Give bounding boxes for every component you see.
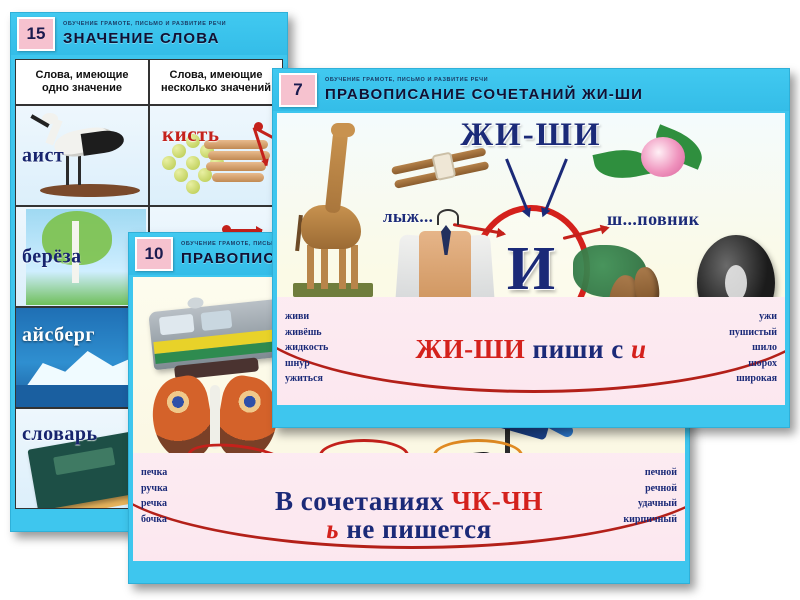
word-shirokaya: широкая (729, 371, 777, 387)
giraffe-icon (291, 131, 375, 301)
word-shilo: шило (729, 340, 777, 356)
rosehip-icon (595, 127, 707, 209)
arrow-shi-to-i (544, 158, 568, 211)
poster-7-subtitle: ОБУЧЕНИЕ ГРАМОТЕ, ПИСЬМО И РАЗВИТИЕ РЕЧИ (325, 78, 643, 84)
word-aisberg: айсберг (22, 324, 95, 347)
poster-7-title: ПРАВОПИСАНИЕ СОЧЕТАНИЙ ЖИ-ШИ (325, 87, 643, 102)
poster-10-footer (129, 563, 689, 583)
poster-15-subtitle: ОБУЧЕНИЕ ГРАМОТЕ, ПИСЬМО И РАЗВИТИЕ РЕЧИ (63, 22, 226, 28)
chk-chn-rule-text: В сочетаниях ЧК-ЧН ь не пишется (133, 487, 685, 544)
word-aist: аист (22, 144, 64, 167)
word-udachnyj: удачный (623, 496, 677, 512)
poster-7-header: 7 ОБУЧЕНИЕ ГРАМОТЕ, ПИСЬМО И РАЗВИТИЕ РЕ… (273, 69, 789, 111)
poster-15-number: 15 (17, 17, 55, 51)
words-right-shi: ужи пушистый шило шорох широкая (729, 309, 777, 387)
table-cell-aist: аист (15, 105, 149, 206)
rule-plain-pishi: пиши с (533, 334, 624, 364)
arrow-zhi-to-i (505, 158, 529, 211)
rule-line2-accent: ь (326, 514, 339, 544)
col2-line2: несколько значений (161, 82, 271, 95)
col2-line1: Слова, имеющие (161, 69, 271, 82)
col1-line1: Слова, имеющие (36, 69, 129, 82)
words-right-chn: печной речной удачный кирпичный (623, 465, 677, 527)
zhi-shi-rule-banner: живи живёшь жидкость шнур ужиться ЖИ-ШИ … (277, 297, 785, 405)
rule-line1-accent: ЧК-ЧН (451, 486, 543, 516)
table-cell-kist: кисть (149, 105, 283, 206)
skis-icon (391, 147, 491, 196)
rule-accent-i: и (631, 334, 647, 364)
poster-collage: 15 ОБУЧЕНИЕ ГРАМОТЕ, ПИСЬМО И РАЗВИТИЕ Р… (0, 0, 800, 600)
poster-zhi-shi[interactable]: 7 ОБУЧЕНИЕ ГРАМОТЕ, ПИСЬМО И РАЗВИТИЕ РЕ… (272, 68, 790, 428)
column-header-single-meaning: Слова, имеющие одно значение (15, 59, 149, 105)
word-uzhi: ужи (729, 309, 777, 325)
poster-7-number: 7 (279, 73, 317, 107)
column-header-multi-meaning: Слова, имеющие несколько значений (149, 59, 283, 105)
word-pechnoj: печной (623, 465, 677, 481)
word-zhivi: живи (285, 309, 328, 325)
word-bereza: берёза (22, 245, 82, 268)
word-kist: кисть (162, 122, 219, 147)
word-pushistyj: пушистый (729, 325, 777, 341)
word-rechnoj: речной (623, 481, 677, 497)
word-shoroh: шорох (729, 356, 777, 372)
zhi-shi-rule-text: ЖИ-ШИ пиши с и (277, 335, 785, 363)
poster-7-scene: ЖИ-ШИ И ж...раф лыж... (277, 113, 785, 405)
word-kirpichnyj: кирпичный (623, 512, 677, 528)
poster-7-body: ЖИ-ШИ И ж...раф лыж... (277, 113, 785, 405)
poster-15-header: 15 ОБУЧЕНИЕ ГРАМОТЕ, ПИСЬМО И РАЗВИТИЕ Р… (11, 13, 287, 55)
poster-15-title: ЗНАЧЕНИЕ СЛОВА (63, 31, 226, 46)
letter-i: И (507, 234, 555, 305)
word-slovar: словарь (22, 423, 98, 446)
poster-10-number: 10 (135, 237, 173, 271)
rule-line2-plain: не пишется (346, 514, 491, 544)
word-pechka: печка (141, 465, 168, 481)
poster-7-footer (273, 407, 789, 427)
word-uzhitsya: ужиться (285, 371, 328, 387)
label-shipovnik: ш...повник (607, 209, 699, 230)
rule-accent-zhishi: ЖИ-ШИ (415, 334, 525, 364)
col1-line2: одно значение (36, 82, 129, 95)
chk-chn-rule-banner: печка ручка речка бочка В сочетаниях ЧК-… (133, 453, 685, 561)
rule-line1-plain: В сочетаниях (275, 486, 444, 516)
